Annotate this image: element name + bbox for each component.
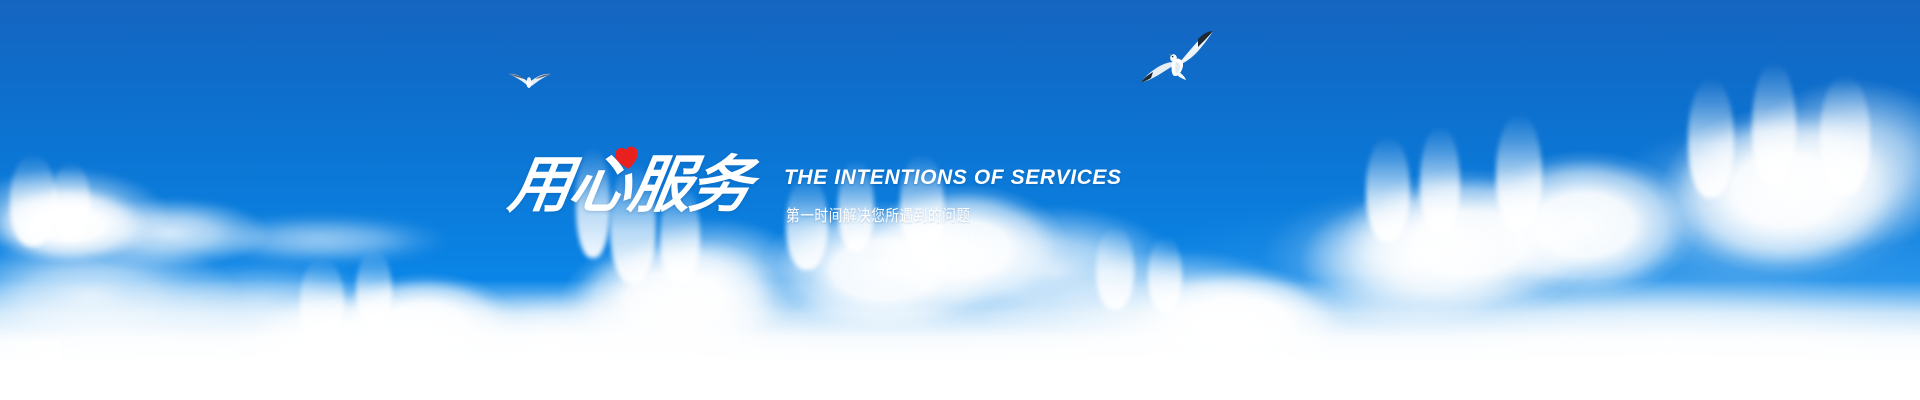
cloud-base — [0, 280, 1920, 400]
title-wrapper: 用心服务 — [510, 148, 762, 226]
seagull-icon — [508, 68, 552, 94]
english-subtitle: THE INTENTIONS OF SERVICES — [784, 166, 1122, 190]
headline-block: 用心服务 THE INTENTIONS OF SERVICES 第一时间解决您所… — [510, 148, 1122, 226]
seagull-icon — [1140, 28, 1214, 90]
heart-icon — [612, 144, 641, 171]
chinese-subtitle: 第一时间解决您所遇到的问题 — [786, 202, 1075, 226]
bird-near — [1140, 28, 1214, 90]
bird-far — [508, 68, 552, 94]
cloud-base-left-fade — [0, 340, 60, 400]
service-banner: 用心服务 THE INTENTIONS OF SERVICES 第一时间解决您所… — [0, 0, 1920, 400]
subtitle-wrapper: THE INTENTIONS OF SERVICES 第一时间解决您所遇到的问题 — [784, 148, 1122, 226]
